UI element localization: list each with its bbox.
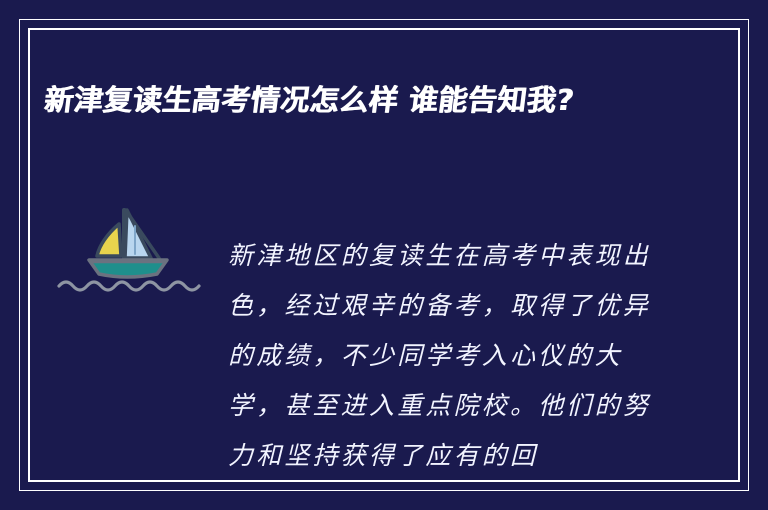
sailboat-illustration xyxy=(55,196,215,296)
front-sail-icon xyxy=(97,224,121,256)
article-body-text: 新津地区的复读生在高考中表现出色，经过艰辛的备考，取得了优异的成绩，不少同学考入… xyxy=(228,231,658,481)
mast-icon xyxy=(122,208,127,260)
wave-icon xyxy=(59,282,199,290)
article-card: 新津复读生高考情况怎么样 谁能告知我? 新津地区的复读生在高考中表现出色，经过艰… xyxy=(0,0,768,510)
page-title: 新津复读生高考情况怎么样 谁能告知我? xyxy=(41,77,707,124)
